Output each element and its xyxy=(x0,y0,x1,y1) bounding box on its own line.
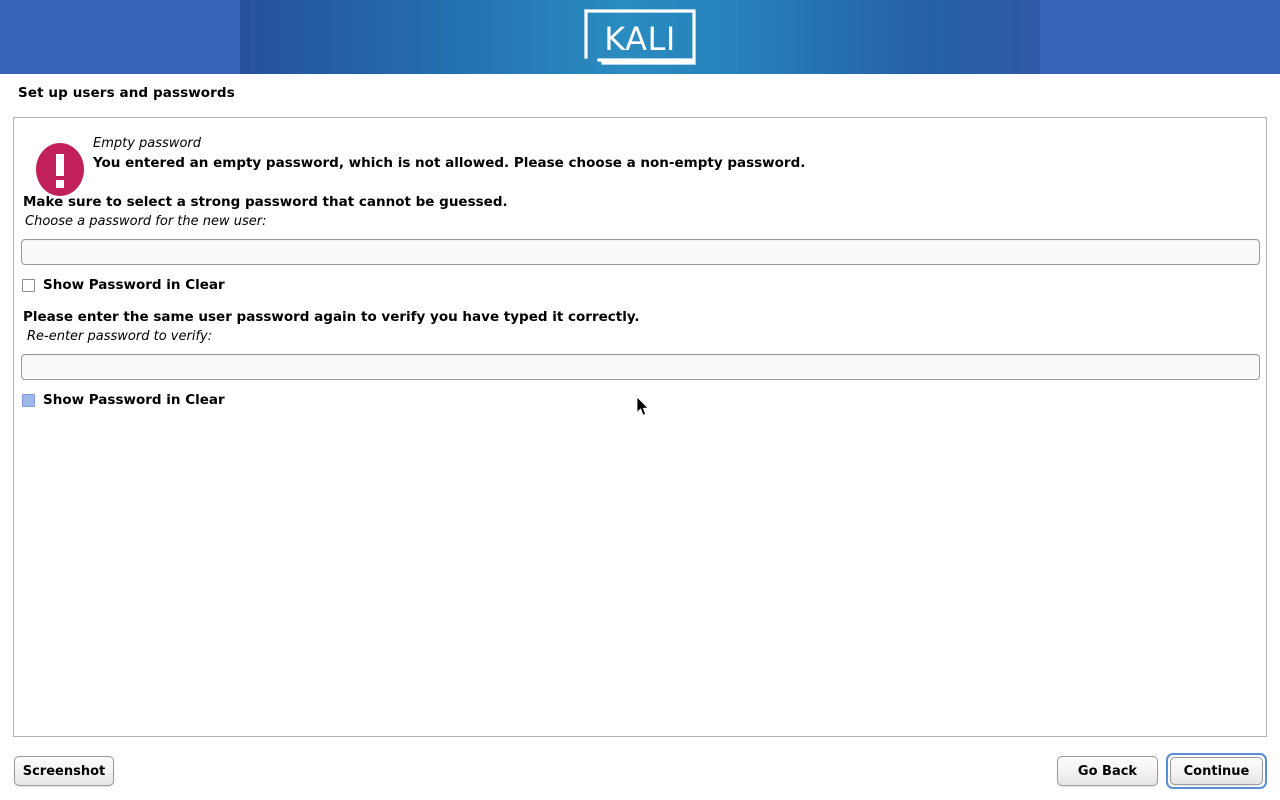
password-input[interactable] xyxy=(21,239,1260,265)
show-password-in-clear-row-1[interactable]: Show Password in Clear xyxy=(22,277,225,293)
continue-button[interactable]: Continue xyxy=(1170,757,1263,785)
password-field-label: Choose a password for the new user: xyxy=(25,214,267,229)
password-strength-hint: Make sure to select a strong password th… xyxy=(23,194,508,210)
show-password-checkbox-1[interactable] xyxy=(22,279,35,292)
page-title: Set up users and passwords xyxy=(18,85,235,101)
show-password-checkbox-2-label: Show Password in Clear xyxy=(43,392,225,408)
show-password-checkbox-1-label: Show Password in Clear xyxy=(43,277,225,293)
screenshot-button[interactable]: Screenshot xyxy=(14,756,114,786)
installer-main-panel: Empty password You entered an empty pass… xyxy=(13,117,1267,737)
error-title: Empty password xyxy=(93,136,201,151)
error-exclamation-icon xyxy=(36,143,84,196)
show-password-in-clear-row-2[interactable]: Show Password in Clear xyxy=(22,392,225,408)
go-back-button[interactable]: Go Back xyxy=(1057,756,1158,786)
verify-field-label: Re-enter password to verify: xyxy=(27,329,212,344)
verify-password-hint: Please enter the same user password agai… xyxy=(23,309,640,325)
error-message: You entered an empty password, which is … xyxy=(93,155,805,171)
kali-logo: KALI xyxy=(583,8,697,66)
kali-logo-text: KALI xyxy=(604,20,676,58)
show-password-checkbox-2[interactable] xyxy=(22,394,35,407)
verify-password-input[interactable] xyxy=(21,354,1260,380)
installer-header-banner: KALI xyxy=(0,0,1280,74)
